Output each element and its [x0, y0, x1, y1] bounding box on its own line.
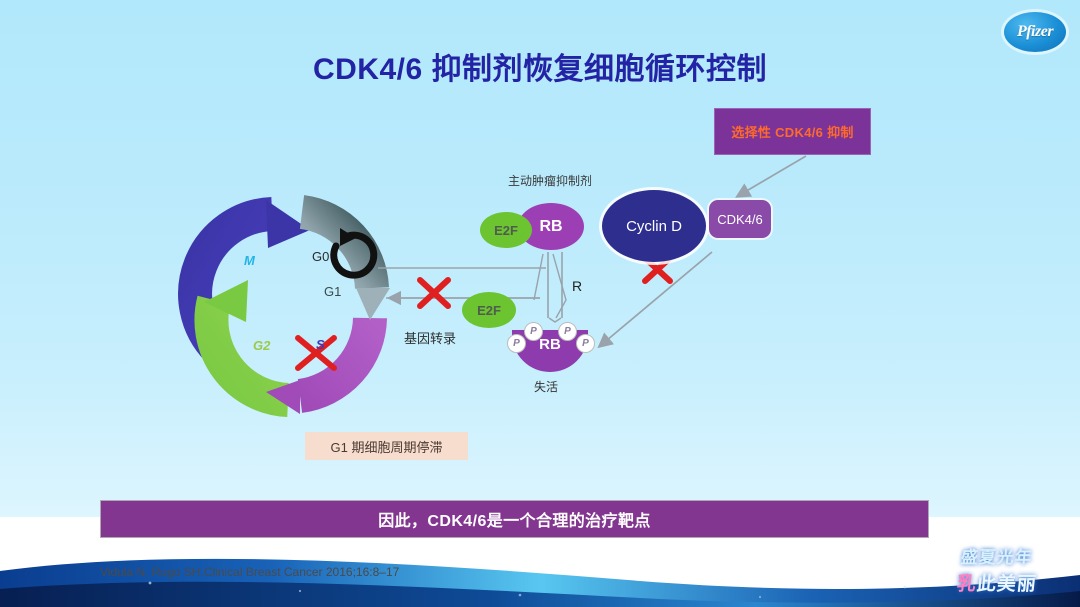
- cell-cycle-label-s: S: [316, 337, 325, 352]
- tumor-suppressor-label: 主动肿瘤抑制剂: [508, 172, 592, 189]
- watermark-line-1: 盛夏光年: [960, 543, 1035, 568]
- phosphate-group-icon: P: [558, 322, 577, 341]
- watermark-line-2: 乳此美丽: [956, 569, 1039, 596]
- protein-rb-active-label: RB: [539, 218, 562, 236]
- restriction-point-label: R: [572, 278, 582, 294]
- watermark: 盛夏光年 乳此美丽: [922, 535, 1072, 603]
- cell-cycle-label-g0: G0: [312, 249, 329, 264]
- phosphate-group-icon: P: [576, 334, 595, 353]
- watermark-line-2-rest: 此美丽: [976, 574, 1038, 595]
- cell-cycle-arc-s: [266, 318, 370, 414]
- protein-e2f-free-label: E2F: [477, 303, 501, 318]
- g1-arrest-label: G1 期细胞周期停滞: [331, 437, 443, 456]
- cell-cycle-label-m: M: [244, 253, 255, 268]
- protein-cyclin-d: Cyclin D: [602, 190, 706, 262]
- phosphate-group-icon: P: [507, 334, 526, 353]
- protein-cdk46: CDK4/6: [709, 200, 771, 238]
- citation-text: Vidula N, Rugo SH.Clinical Breast Cancer…: [100, 565, 399, 579]
- conclusion-banner: 因此，CDK4/6是一个合理的治疗靶点: [100, 500, 929, 538]
- cell-cycle-label-g1: G1: [324, 284, 341, 299]
- phosphate-group-icon: P: [524, 322, 543, 341]
- red-cross-gene-transcription: [420, 280, 448, 306]
- protein-cdk46-label: CDK4/6: [717, 212, 763, 227]
- cell-cycle-label-g2: G2: [253, 338, 270, 353]
- cell-cycle-arc-g2: [204, 280, 288, 400]
- protein-e2f-bound: E2F: [480, 212, 532, 248]
- protein-e2f-free: E2F: [462, 292, 516, 328]
- arrow-inhibitor-to-cdk: [738, 156, 806, 196]
- protein-e2f-bound-label: E2F: [494, 223, 518, 238]
- watermark-ribbon-char: 乳: [956, 574, 978, 595]
- protein-cyclin-d-label: Cyclin D: [626, 218, 682, 235]
- gene-transcription-label: 基因转录: [404, 328, 456, 347]
- slide-canvas: Pfizer CDK4/6 抑制剂恢复细胞循环控制 选择性 CDK4/6 抑制: [0, 0, 1080, 607]
- rb-inactive-caption: 失活: [534, 378, 558, 395]
- g1-arrest-callout: G1 期细胞周期停滞: [305, 432, 468, 460]
- cell-cycle-arc-g1: [302, 212, 390, 320]
- conclusion-text: 因此，CDK4/6是一个合理的治疗靶点: [378, 507, 651, 531]
